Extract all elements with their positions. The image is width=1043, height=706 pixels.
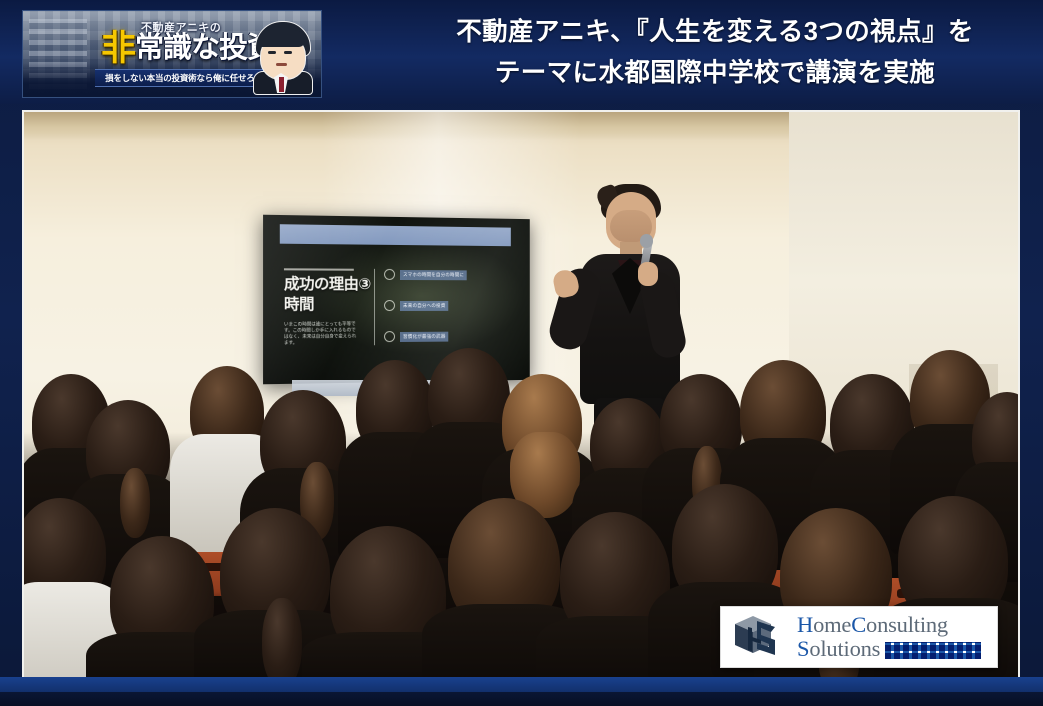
brand-logo-text: HomeConsulting Solutions [797,614,981,661]
page-title: 不動産アニキ、『人生を変える3つの視点』を テーマに水都国際中学校で講演を実施 [400,8,1030,98]
brand-h: H [797,612,813,637]
header-bar: 不動産アニキの 非常識な投資学 損をしない本当の投資術なら俺に任せろ!! 不動産… [0,0,1043,104]
microphone-head-icon [640,234,653,248]
event-photo-frame: 成功の理由③ 時間 いまこの時間は誰にとっても平等です。この時間しか手に入れるも… [22,110,1020,686]
brand-s: S [797,638,809,661]
mascot-avatar-icon [251,21,313,91]
brand-olutions: olutions [809,638,880,661]
hcs-cube-icon [731,613,789,661]
page-root: 不動産アニキの 非常識な投資学 損をしない本当の投資術なら俺に任せろ!! 不動産… [0,0,1043,706]
footer-dark-band [0,692,1043,706]
logo-highlight-char: 非 [101,29,135,68]
event-photo: 成功の理由③ 時間 いまこの時間は誰にとっても平等です。この時間しか手に入れるも… [24,112,1018,684]
logo-subtitle: 損をしない本当の投資術なら俺に任せろ!! [95,69,270,87]
brand-dot-pattern-icon [885,642,981,659]
brand-ome: ome [813,612,851,637]
footer-accent-band [0,677,1043,692]
audience-ponytail [262,598,302,684]
brand-onsulting: onsulting [866,612,948,637]
site-logo-badge[interactable]: 不動産アニキの 非常識な投資学 損をしない本当の投資術なら俺に任せろ!! [22,10,322,98]
brand-line-2: Solutions [797,638,981,661]
audience-ponytail [120,468,150,538]
page-title-line1: 不動産アニキ、『人生を変える3つの視点』を [456,12,974,53]
brand-logo[interactable]: HomeConsulting Solutions [720,606,998,668]
page-title-line2: テーマに水都国際中学校で講演を実施 [495,53,935,94]
brand-c: C [851,612,866,637]
brand-line-1: HomeConsulting [797,614,981,637]
